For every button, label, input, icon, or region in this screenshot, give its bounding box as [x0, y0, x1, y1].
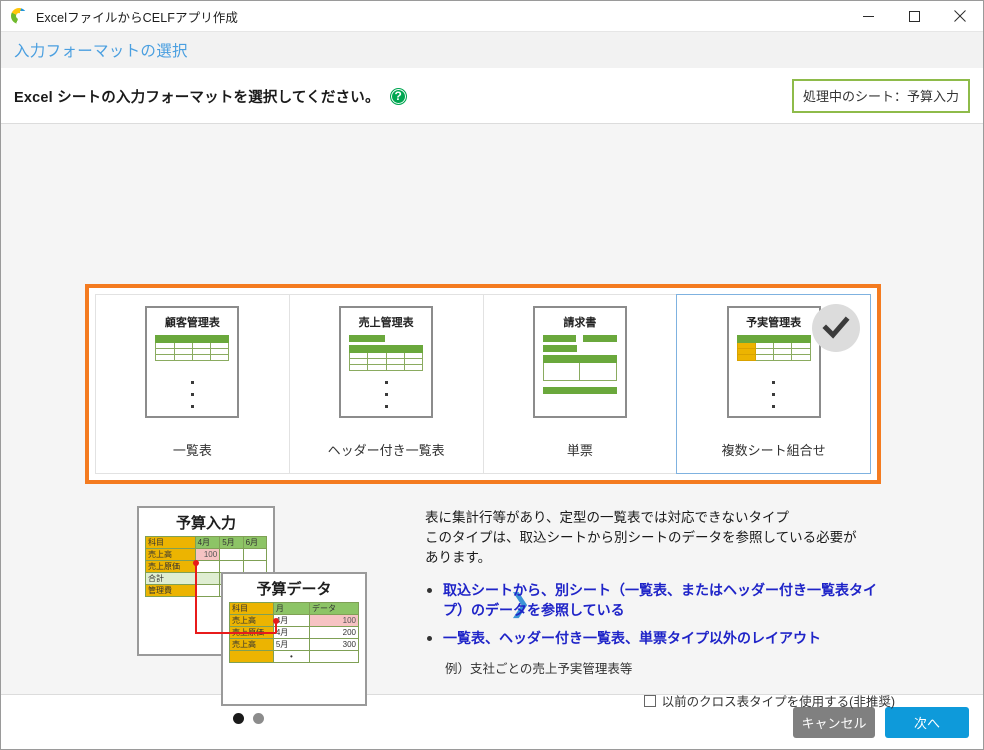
- sheet-row: 売上原価 4月 200: [230, 627, 359, 639]
- example-text: 例）支社ごとの売上予実管理表等: [425, 658, 895, 677]
- format-card-label: 単票: [567, 440, 593, 459]
- sheet-row: 売上原価: [146, 561, 267, 573]
- thumbnail-sales-list: 売上管理表: [339, 306, 433, 418]
- format-card-single-form[interactable]: 請求書 単票: [483, 294, 677, 474]
- thumbnail-table: [737, 335, 811, 361]
- format-card-label: 複数シート組合せ: [722, 440, 826, 459]
- sheet-cell: 売上高: [230, 639, 274, 651]
- thumbnail-total-bar: [543, 387, 617, 394]
- window-controls: [845, 1, 983, 32]
- sheet-cell: [195, 573, 220, 585]
- maximize-icon[interactable]: [891, 1, 937, 32]
- sheet-header-cell: 5月: [220, 537, 243, 549]
- sheet-row: •: [230, 651, 359, 663]
- format-cards-row: 顧客管理表 一覧表 売上管理表: [95, 294, 871, 474]
- header-strip: 入力フォーマットの選択: [1, 32, 983, 69]
- sheet-cell: 4月: [273, 615, 309, 627]
- sheet-row: 売上高 100: [146, 549, 267, 561]
- format-card-multi-sheet[interactable]: 予実管理表 複数シート組合せ: [676, 294, 871, 474]
- format-card-list-with-header[interactable]: 売上管理表 ヘッダー付き一覧表: [289, 294, 483, 474]
- sheet-cell: [243, 561, 266, 573]
- page-title: 入力フォーマットの選択: [14, 39, 188, 61]
- pager-dot-1[interactable]: [233, 713, 244, 724]
- thumbnail-invoice: 請求書: [533, 306, 627, 418]
- thumbnail-title: 売上管理表: [349, 314, 423, 330]
- celf-logo-icon: [10, 7, 28, 25]
- condition-list: 取込シートから、別シート（一覧表、またはヘッダー付き一覧表タイプ）のデータを参照…: [425, 580, 895, 648]
- pager-dot-2[interactable]: [253, 713, 264, 724]
- sheet-cell: [243, 549, 266, 561]
- sheet-header-cell: 6月: [243, 537, 266, 549]
- sample-sheet-budget-data: 予算データ 科目 月 データ 売上高 4月 100: [221, 572, 367, 706]
- thumbnail-title: 顧客管理表: [155, 314, 229, 330]
- sheet-cell: [195, 561, 220, 573]
- sheet-header-cell: 4月: [195, 537, 220, 549]
- processing-sheet-badge: 処理中のシート：予算入力: [792, 79, 970, 113]
- thumbnail-title: 予実管理表: [737, 314, 811, 330]
- vertical-ellipsis: [147, 381, 237, 408]
- sheet-row: 売上高 4月 100: [230, 615, 359, 627]
- check-icon: [812, 304, 860, 352]
- title-bar: ExcelファイルからCELFアプリ作成: [1, 1, 983, 32]
- thumbnail-field-bar: [543, 335, 577, 342]
- thumbnail-budget-actual: 予実管理表: [727, 306, 821, 418]
- sheet-header-cell: 月: [273, 603, 309, 615]
- sheet-cell: 4月: [273, 627, 309, 639]
- help-icon[interactable]: ?: [390, 88, 407, 105]
- format-description: 表に集計行等があり、定型の一覧表では対応できないタイプ このタイプは、取込シート…: [425, 508, 895, 710]
- instruction-text: Excel シートの入力フォーマットを選択してください。: [14, 86, 380, 107]
- vertical-ellipsis: [729, 381, 819, 408]
- sheet-cell: 売上高: [146, 549, 196, 561]
- sheet-cell: 売上原価: [230, 627, 274, 639]
- format-cards-frame: 顧客管理表 一覧表 売上管理表: [85, 284, 881, 484]
- sheet-cell: 管理費: [146, 585, 196, 597]
- thumbnail-table: [543, 355, 617, 381]
- legacy-cross-table-label: 以前のクロス表タイプを使用する(非推奨): [662, 691, 895, 710]
- carousel-pager[interactable]: [233, 713, 264, 724]
- next-button[interactable]: 次へ: [885, 707, 969, 738]
- sheet-cell: [230, 651, 274, 663]
- thumbnail-header-bar: [349, 335, 385, 342]
- thumbnail-table: [155, 335, 229, 361]
- sheet-cell: 合計: [146, 573, 196, 585]
- thumbnail-customer-list: 顧客管理表: [145, 306, 239, 418]
- sheet-cell: 300: [309, 639, 358, 651]
- legacy-cross-table-checkbox[interactable]: [644, 695, 656, 707]
- sheet-table: 科目 月 データ 売上高 4月 100 売上原価 4月 200: [229, 602, 359, 663]
- sheet-cell: [220, 549, 243, 561]
- sheet-cell: 売上高: [230, 615, 274, 627]
- format-card-list[interactable]: 顧客管理表 一覧表: [95, 294, 289, 474]
- list-item: 取込シートから、別シート（一覧表、またはヘッダー付き一覧表タイプ）のデータを参照…: [425, 580, 895, 620]
- sheet-cell: 売上原価: [146, 561, 196, 573]
- sheet-cell-highlight: 100: [309, 615, 358, 627]
- description-line-2: このタイプは、取込シートから別シートのデータを参照している必要が: [425, 528, 895, 548]
- legacy-cross-table-option[interactable]: 以前のクロス表タイプを使用する(非推奨): [425, 691, 895, 710]
- list-item: 一覧表、ヘッダー付き一覧表、単票タイプ以外のレイアウト: [425, 628, 895, 648]
- detail-area: 予算入力 科目 4月 5月 6月 売上高 100: [1, 496, 983, 694]
- close-icon[interactable]: [937, 1, 983, 32]
- cancel-button[interactable]: キャンセル: [793, 707, 875, 738]
- content-panel: 顧客管理表 一覧表 売上管理表: [1, 123, 983, 695]
- sheet-cell: [220, 561, 243, 573]
- instruction-row: Excel シートの入力フォーマットを選択してください。 ? 処理中のシート：予…: [1, 69, 983, 123]
- window-title: ExcelファイルからCELFアプリ作成: [36, 7, 238, 26]
- description-line-3: あります。: [425, 548, 895, 568]
- sheet-header-cell: 科目: [146, 537, 196, 549]
- sheet-title: 予算入力: [145, 512, 267, 533]
- minimize-icon[interactable]: [845, 1, 891, 32]
- sample-illustration: 予算入力 科目 4月 5月 6月 売上高 100: [137, 506, 367, 696]
- sheet-cell: 200: [309, 627, 358, 639]
- sheet-header-cell: 科目: [230, 603, 274, 615]
- sheet-cell: [195, 585, 220, 597]
- sheet-cell: 5月: [273, 639, 309, 651]
- thumbnail-title: 請求書: [543, 314, 617, 330]
- vertical-ellipsis: [341, 381, 431, 408]
- format-card-label: 一覧表: [173, 440, 212, 459]
- sheet-row: 売上高 5月 300: [230, 639, 359, 651]
- sheet-cell: [309, 651, 358, 663]
- sheet-cell: •: [273, 651, 309, 663]
- thumbnail-field-bar: [543, 345, 577, 352]
- dialog-window: ExcelファイルからCELFアプリ作成 入力フォーマットの選択 Excel シ…: [0, 0, 984, 750]
- sheet-title: 予算データ: [229, 578, 359, 599]
- sheet-cell-highlight: 100: [195, 549, 220, 561]
- sheet-header-cell: データ: [309, 603, 358, 615]
- format-card-label: ヘッダー付き一覧表: [328, 440, 445, 459]
- thumbnail-field-bar: [583, 335, 617, 342]
- description-line-1: 表に集計行等があり、定型の一覧表では対応できないタイプ: [425, 508, 895, 528]
- thumbnail-table: [349, 345, 423, 371]
